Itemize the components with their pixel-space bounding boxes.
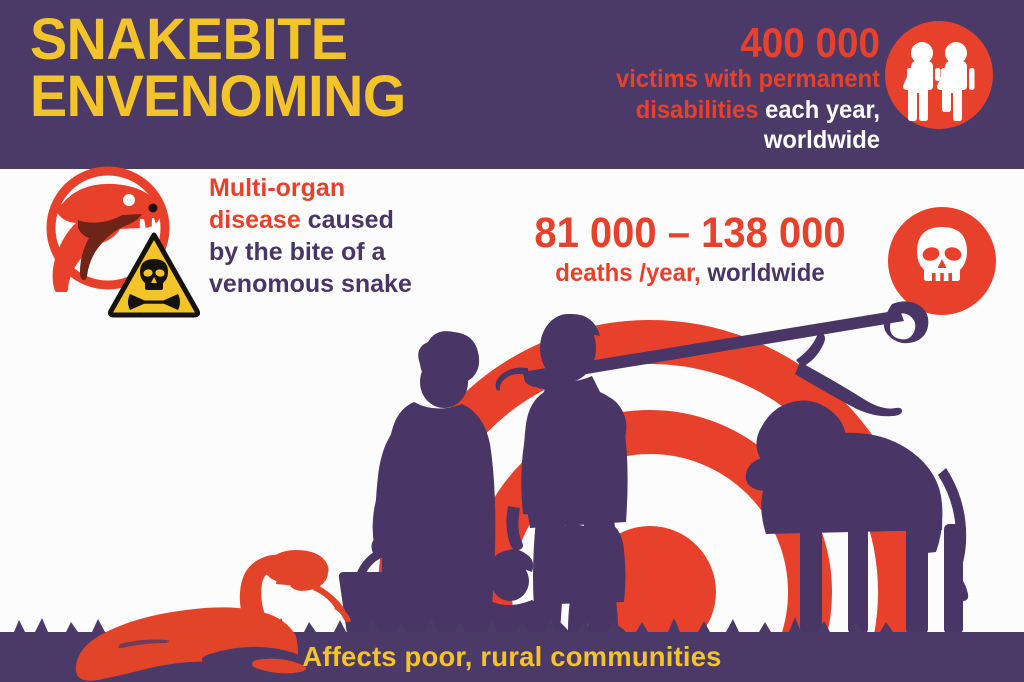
stat-deaths-label-red: deaths /year, bbox=[555, 259, 700, 287]
stat-disabilities: 400 000 victims with permanent disabilit… bbox=[520, 22, 880, 156]
definition-text: Multi-organ disease caused by the bite o… bbox=[209, 172, 499, 300]
definition-line4: venomous snake bbox=[209, 270, 412, 298]
definition-red-1: Multi-organ bbox=[209, 174, 345, 202]
footer-caption: Affects poor, rural communities bbox=[10, 641, 1014, 673]
definition-line3: by the bite of a bbox=[209, 238, 385, 266]
infographic-poster: SNAKEBITE ENVENOMING 400 000 victims wit… bbox=[0, 0, 1024, 682]
stat-disabilities-number: 400 000 bbox=[549, 22, 880, 64]
stat-disabilities-line2-red: disabilities bbox=[636, 96, 759, 124]
two-people-disability-icon bbox=[885, 21, 993, 129]
stat-deaths-label-purple: worldwide bbox=[707, 259, 824, 287]
stat-deaths: 81 000 – 138 000 deaths /year, worldwide bbox=[500, 212, 880, 290]
stat-deaths-number: 81 000 – 138 000 bbox=[513, 212, 866, 255]
stat-disabilities-line1: victims with permanent bbox=[616, 65, 880, 93]
stat-disabilities-line2-white: each year, bbox=[765, 96, 880, 124]
page-title: SNAKEBITE ENVENOMING bbox=[30, 12, 529, 126]
definition-red-2: disease bbox=[209, 206, 301, 234]
definition-line2-rest: caused bbox=[301, 206, 394, 234]
skull-icon bbox=[888, 207, 996, 315]
stat-disabilities-line3: worldwide bbox=[764, 126, 880, 154]
